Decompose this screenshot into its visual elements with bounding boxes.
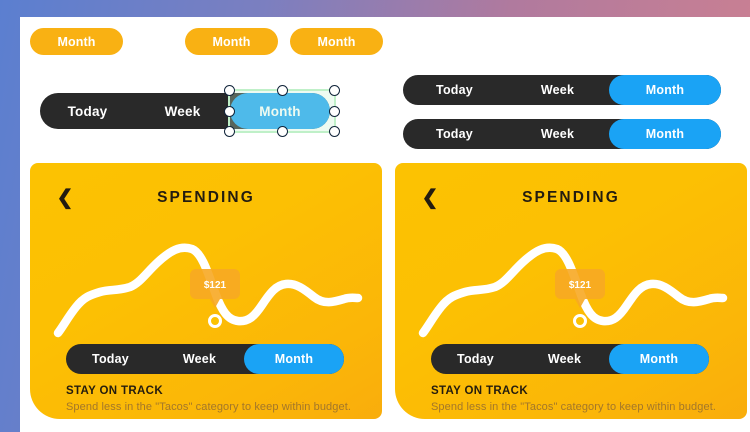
card-right-segment-month[interactable]: Month — [609, 344, 709, 374]
segmented-control-right-1[interactable]: Today Week Month — [403, 75, 721, 105]
resize-handle-e[interactable] — [329, 106, 340, 117]
spending-card-right: ❮ SPENDING $121 Today Week Month STAY ON… — [395, 163, 747, 419]
card-right-segment-today-label: Today — [457, 352, 494, 366]
month-pill-2[interactable]: Month — [185, 28, 278, 55]
card-right-footer: STAY ON TRACK Spend less in the "Tacos" … — [431, 385, 729, 413]
card-right-segment-week-label: Week — [548, 352, 581, 366]
segmented-control-right-2[interactable]: Today Week Month — [403, 119, 721, 149]
spending-line-chart-left — [46, 221, 366, 339]
spending-line-chart-right — [411, 221, 731, 339]
card-left-footer-heading: STAY ON TRACK — [66, 385, 364, 397]
segment-option-month-label: Month — [259, 104, 300, 119]
segmented-control-main[interactable]: Today Week Month — [40, 93, 330, 129]
card-left-segment-week-label: Week — [183, 352, 216, 366]
segment-option-week-label: Week — [165, 104, 201, 119]
card-left-segment-month[interactable]: Month — [244, 344, 344, 374]
segmented-control-card-right[interactable]: Today Week Month — [431, 344, 709, 374]
card-left-footer: STAY ON TRACK Spend less in the "Tacos" … — [66, 385, 364, 413]
segment-right1-option-month-label: Month — [646, 83, 684, 97]
resize-handle-ne[interactable] — [329, 85, 340, 96]
month-pill-1[interactable]: Month — [30, 28, 123, 55]
card-left-footer-text: Spend less in the "Tacos" category to ke… — [66, 401, 364, 413]
card-right-footer-heading: STAY ON TRACK — [431, 385, 729, 397]
segment-right2-option-month-label: Month — [646, 127, 684, 141]
card-left-segment-today-label: Today — [92, 352, 129, 366]
month-pill-3-label: Month — [318, 35, 356, 49]
segment-right2-option-week-label: Week — [541, 127, 574, 141]
card-right-title: SPENDING — [395, 189, 747, 207]
design-canvas: Month Month Month Today Week Month Today — [20, 17, 750, 432]
segmented-control-card-left[interactable]: Today Week Month — [66, 344, 344, 374]
card-right-footer-text: Spend less in the "Tacos" category to ke… — [431, 401, 729, 413]
spending-card-left: ❮ SPENDING $121 Today Week Month STAY ON… — [30, 163, 382, 419]
month-pill-3[interactable]: Month — [290, 28, 383, 55]
segment-option-week[interactable]: Week — [135, 93, 230, 129]
segment-option-month[interactable]: Month — [230, 93, 330, 129]
card-left-segment-month-label: Month — [275, 352, 313, 366]
month-pill-2-label: Month — [213, 35, 251, 49]
card-right-segment-today[interactable]: Today — [431, 344, 520, 374]
card-left-title: SPENDING — [30, 189, 382, 207]
card-right-segment-week[interactable]: Week — [520, 344, 609, 374]
segment-right1-option-week[interactable]: Week — [506, 75, 609, 105]
card-left-segment-today[interactable]: Today — [66, 344, 155, 374]
segment-right1-option-today[interactable]: Today — [403, 75, 506, 105]
card-right-segment-month-label: Month — [640, 352, 678, 366]
segment-right1-option-today-label: Today — [436, 83, 473, 97]
segment-option-today[interactable]: Today — [40, 93, 135, 129]
resize-handle-se[interactable] — [329, 126, 340, 137]
segment-right2-option-month[interactable]: Month — [609, 119, 721, 149]
segment-right2-option-today[interactable]: Today — [403, 119, 506, 149]
segment-option-today-label: Today — [68, 104, 108, 119]
month-pill-1-label: Month — [58, 35, 96, 49]
segment-right2-option-today-label: Today — [436, 127, 473, 141]
segment-right1-option-month[interactable]: Month — [609, 75, 721, 105]
card-left-segment-week[interactable]: Week — [155, 344, 244, 374]
segment-right1-option-week-label: Week — [541, 83, 574, 97]
segment-right2-option-week[interactable]: Week — [506, 119, 609, 149]
